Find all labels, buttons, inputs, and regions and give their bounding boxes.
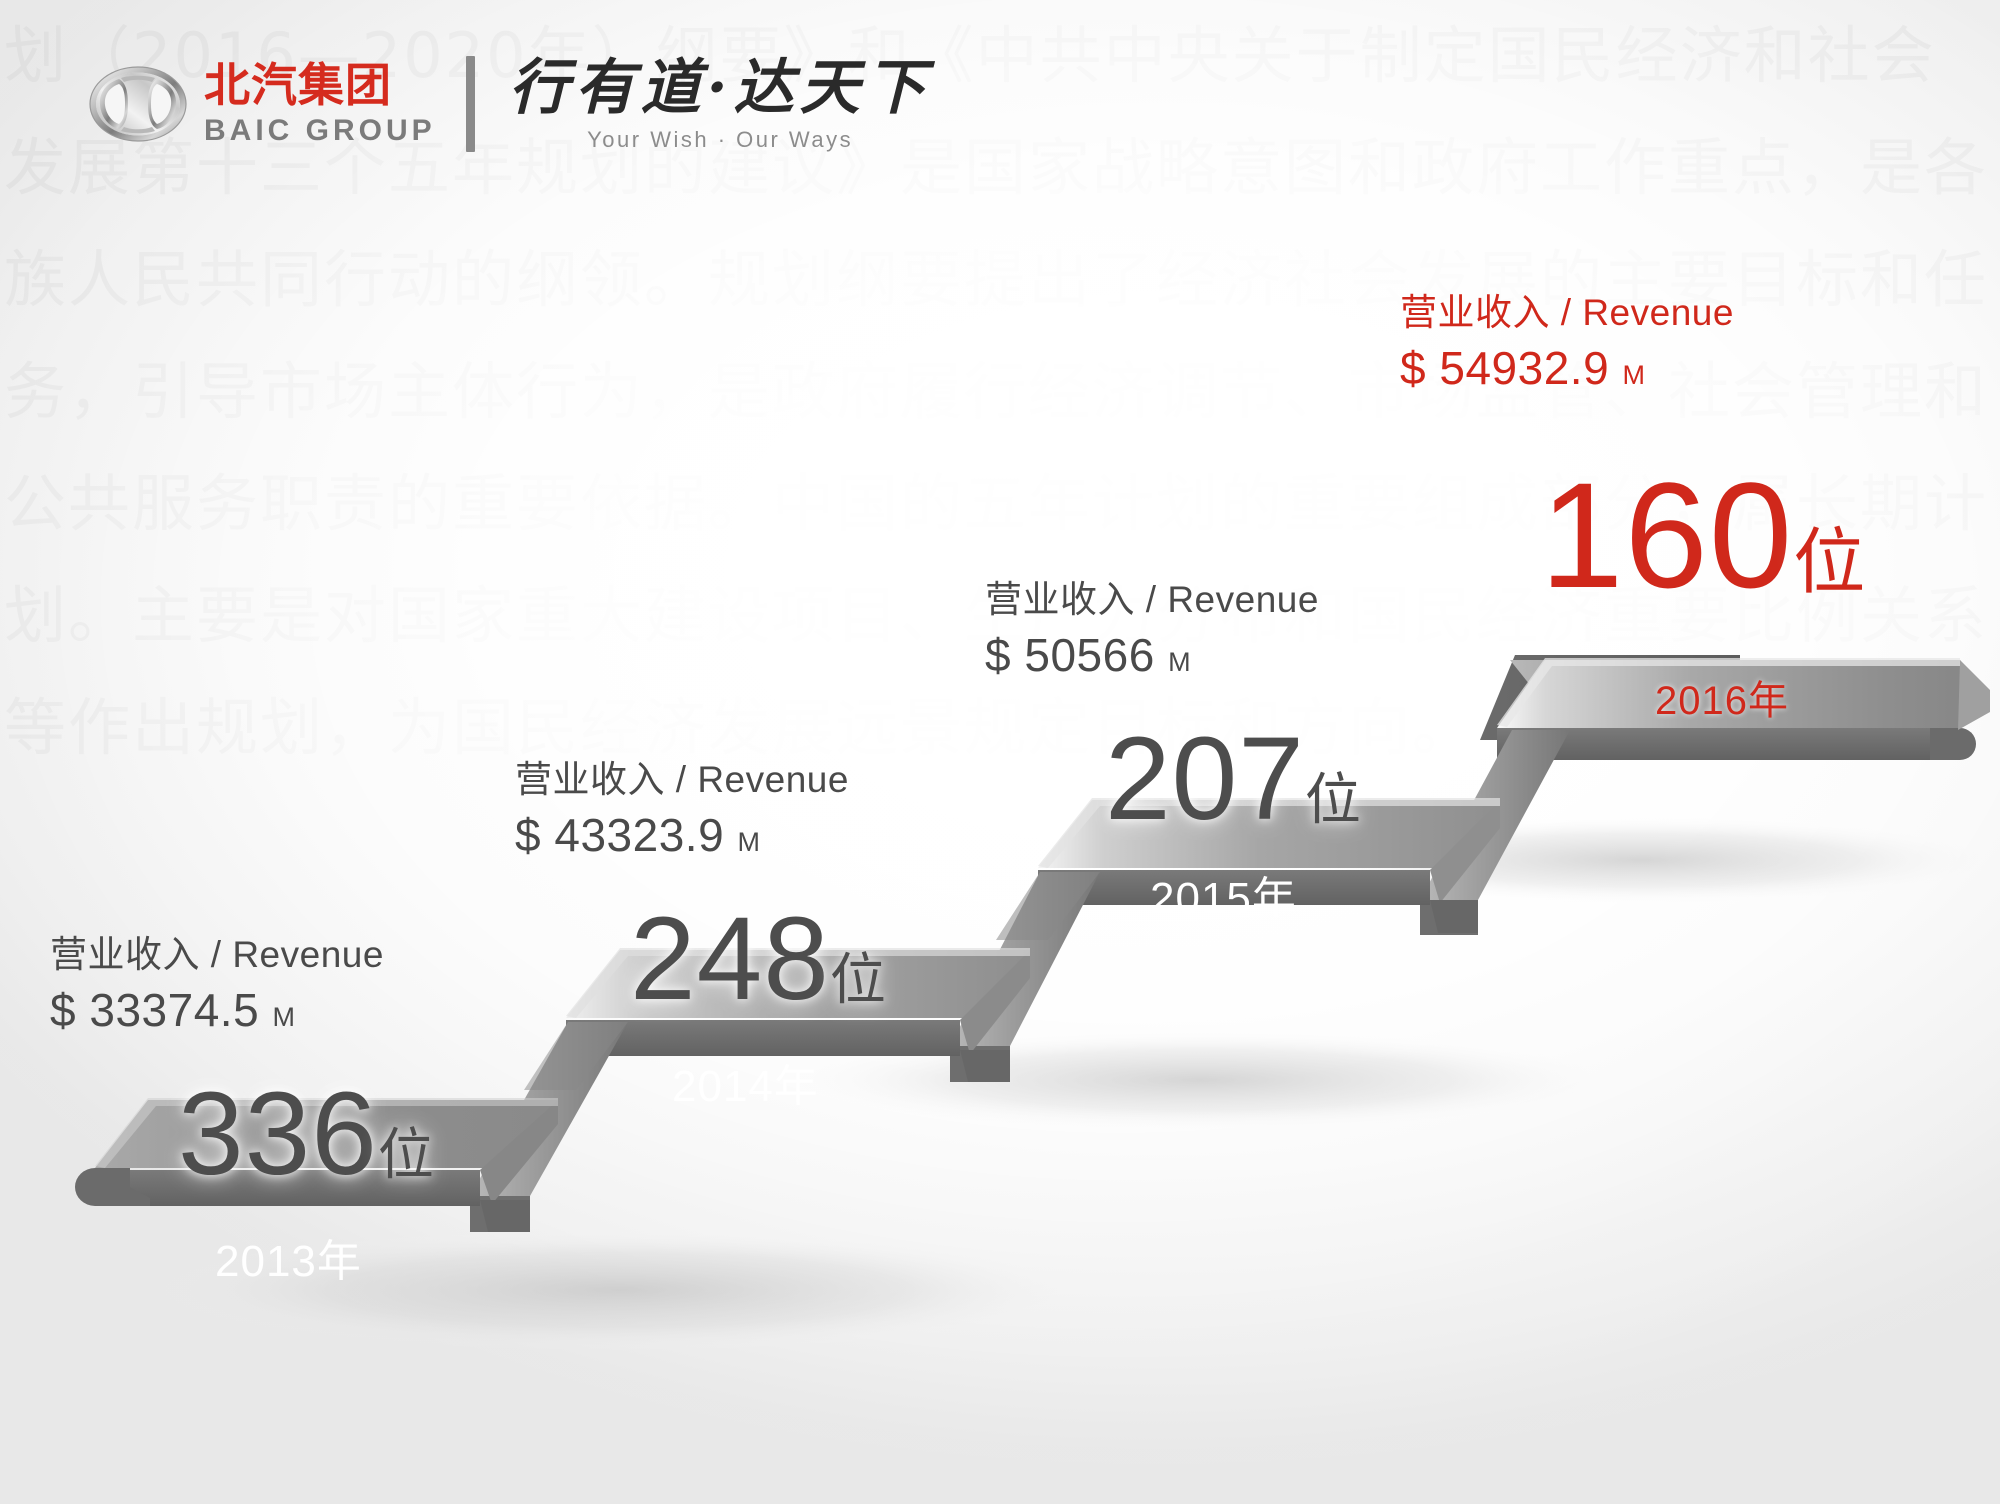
revenue-title-2013: 营业收入 / Revenue <box>50 930 384 980</box>
revenue-amount-2015: $ 50566 M <box>985 625 1319 687</box>
revenue-unit-2013: M <box>272 1002 295 1032</box>
rank-block-2014: 248位 <box>630 900 887 1018</box>
revenue-amount-2016: $ 54932.9 M <box>1400 338 1734 400</box>
slogan-en: Your Wish · Our Ways <box>587 127 853 153</box>
revenue-currency-2015: $ <box>985 629 1011 681</box>
year-label-2016: 2016年 <box>1655 668 1789 726</box>
revenue-title-2014: 营业收入 / Revenue <box>515 755 849 805</box>
baic-emblem-icon <box>88 65 188 143</box>
rank-unit-2014: 位 <box>830 948 887 1011</box>
rank-value-2014: 248 <box>630 893 830 1025</box>
rank-value-2015: 207 <box>1105 713 1305 845</box>
revenue-unit-2016: M <box>1622 360 1645 390</box>
year-label-2015: 2015年 <box>1150 862 1297 926</box>
revenue-unit-2015: M <box>1168 647 1191 677</box>
revenue-value-2013: 33374.5 <box>89 984 259 1036</box>
revenue-title-2015: 营业收入 / Revenue <box>985 575 1319 625</box>
rank-block-2015: 207位 <box>1105 720 1362 838</box>
header-divider <box>466 56 475 152</box>
revenue-unit-2014: M <box>737 827 760 857</box>
infographic-canvas: 划（2016—2020年）纲要》和《中共中央关于制定国民经济和社会发展第十三个五… <box>0 0 2000 1504</box>
brand-name-en: BAIC GROUP <box>204 114 436 147</box>
revenue-title-2016: 营业收入 / Revenue <box>1400 288 1734 338</box>
revenue-block-2016: 营业收入 / Revenue $ 54932.9 M <box>1400 288 1734 399</box>
revenue-block-2014: 营业收入 / Revenue $ 43323.9 M <box>515 755 849 866</box>
rank-value-2016: 160 <box>1540 451 1793 619</box>
revenue-block-2013: 营业收入 / Revenue $ 33374.5 M <box>50 930 384 1041</box>
revenue-value-2016: 54932.9 <box>1439 342 1609 394</box>
revenue-currency-2016: $ <box>1400 342 1426 394</box>
year-label-2013: 2013年 <box>215 1225 362 1289</box>
rank-value-2013: 336 <box>178 1068 378 1200</box>
brand-name-cn: 北汽集团 <box>204 61 436 109</box>
revenue-amount-2013: $ 33374.5 M <box>50 980 384 1042</box>
brand-slogan: 行有道·达天下 Your Wish · Our Ways <box>509 55 932 153</box>
revenue-value-2014: 43323.9 <box>554 809 724 861</box>
revenue-block-2015: 营业收入 / Revenue $ 50566 M <box>985 575 1319 686</box>
rank-block-2016: 160位 <box>1540 460 1866 610</box>
revenue-amount-2014: $ 43323.9 M <box>515 805 849 867</box>
brand-header: 北汽集团 BAIC GROUP 行有道·达天下 Your Wish · Our … <box>88 55 932 153</box>
rank-unit-2015: 位 <box>1305 768 1362 831</box>
revenue-currency-2013: $ <box>50 984 76 1036</box>
revenue-value-2015: 50566 <box>1024 629 1154 681</box>
revenue-currency-2014: $ <box>515 809 541 861</box>
rank-unit-2013: 位 <box>378 1123 435 1186</box>
rank-unit-2016: 位 <box>1793 523 1866 603</box>
rank-block-2013: 336位 <box>178 1075 435 1193</box>
brand-wordmark: 北汽集团 BAIC GROUP <box>204 61 436 146</box>
slogan-cn: 行有道·达天下 <box>509 55 932 121</box>
year-label-2014: 2014年 <box>672 1050 819 1114</box>
